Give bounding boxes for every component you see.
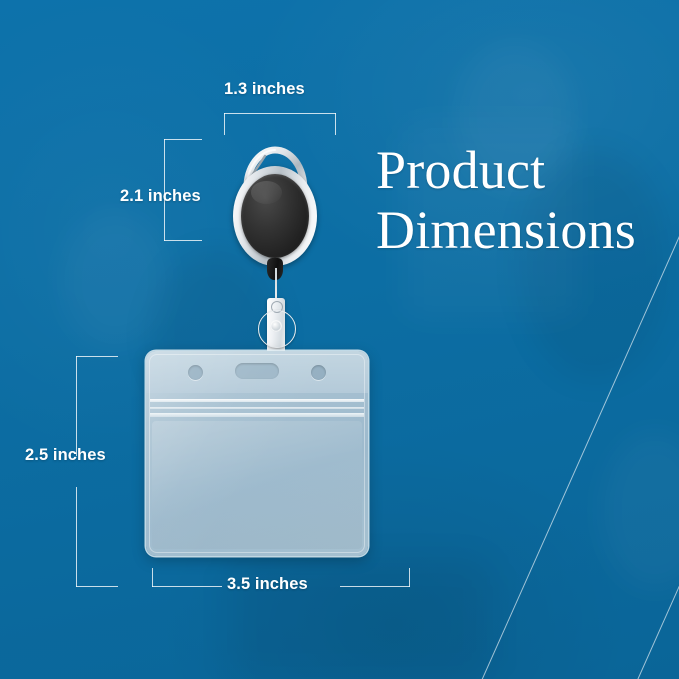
dimension-label-holder-height: 2.5 inches (25, 446, 106, 465)
page-title: Product Dimensions (376, 140, 676, 261)
holder-slot (235, 363, 279, 379)
dimension-label-reel-width: 1.3 inches (224, 80, 305, 99)
punch-hole-left (188, 365, 203, 380)
vinyl-badge-holder (146, 351, 368, 556)
holder-card-window (152, 421, 362, 549)
holder-seam-3 (150, 413, 364, 417)
punch-hole-right (311, 365, 326, 380)
retractable-badge-reel (229, 140, 321, 270)
dimension-label-holder-width: 3.5 inches (227, 575, 308, 594)
product-dimensions-infographic: Product Dimensions 1.3 inches 2.1 inches… (0, 0, 679, 679)
page-title-line-1: Product (376, 140, 545, 200)
snap-button (270, 320, 282, 332)
reel-black-face (241, 174, 309, 258)
holder-seam-2 (150, 407, 364, 409)
dimension-label-reel-height: 2.1 inches (120, 187, 201, 206)
page-title-line-2: Dimensions (376, 200, 676, 260)
holder-seam-1 (150, 399, 364, 402)
